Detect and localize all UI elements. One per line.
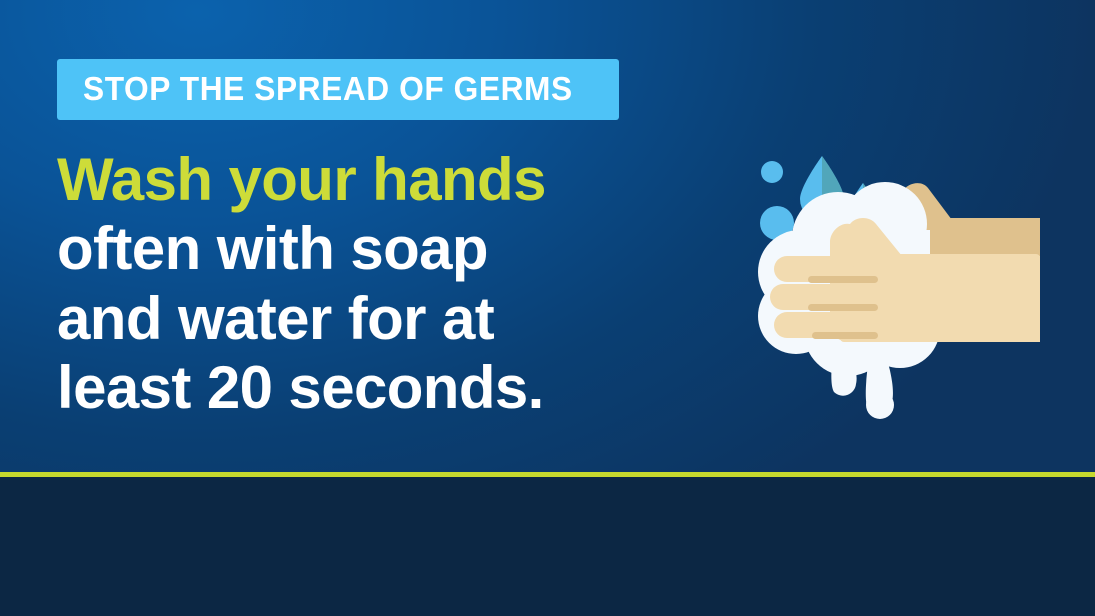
headline-line-2: often with soap bbox=[57, 214, 697, 283]
stop-the-spread-banner: STOP THE SPREAD OF GERMS bbox=[57, 59, 619, 120]
headline-line-1: Wash your hands bbox=[57, 145, 697, 214]
footer-bar: CDC RECOMMENDATIONS C bbox=[0, 477, 1095, 616]
headline-line-4: least 20 seconds. bbox=[57, 353, 697, 422]
headline-line-3: and water for at bbox=[57, 284, 697, 353]
handwashing-illustration bbox=[730, 120, 1070, 420]
headline-block: Wash your hands often with soap and wate… bbox=[57, 145, 697, 422]
cdc-covid-poster: STOP THE SPREAD OF GERMS Wash your hands… bbox=[0, 0, 1095, 616]
main-panel: STOP THE SPREAD OF GERMS Wash your hands… bbox=[0, 0, 1095, 472]
banner-label: STOP THE SPREAD OF GERMS bbox=[83, 72, 573, 105]
